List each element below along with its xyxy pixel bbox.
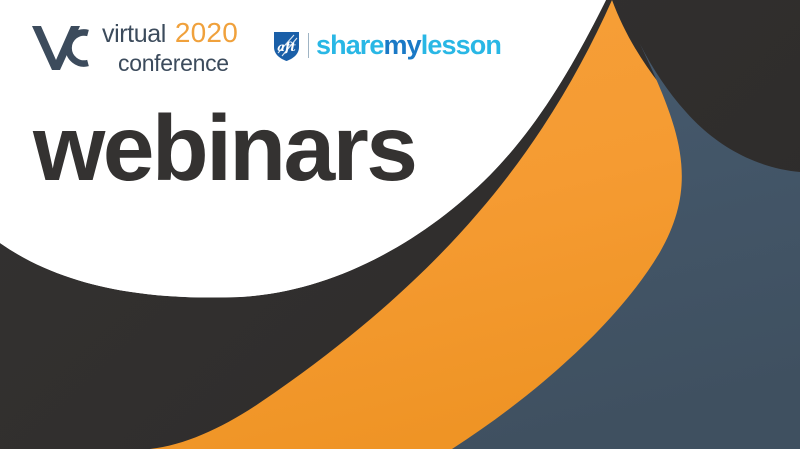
- svg-text:aft: aft: [277, 40, 296, 54]
- share-my-lesson-logo: aft sharemylesson: [272, 29, 501, 62]
- conference-text: conference: [118, 52, 238, 75]
- logo-divider: [308, 33, 309, 58]
- virtual-conference-logo: virtual 2020 conference: [28, 18, 238, 75]
- webinar-promo-banner: virtual 2020 conference aft: [0, 0, 800, 449]
- year-text: 2020: [175, 19, 238, 47]
- virtual-text: virtual: [102, 22, 166, 47]
- logo-row: virtual 2020 conference aft: [28, 18, 501, 75]
- virtual-conference-line1: virtual 2020: [102, 19, 238, 47]
- share-my-lesson-wordmark: sharemylesson: [316, 32, 501, 59]
- sml-lesson-text: lesson: [421, 30, 501, 60]
- sml-my-text: my: [384, 30, 421, 60]
- sml-share-text: share: [316, 30, 384, 60]
- aft-shield-icon: aft: [272, 29, 301, 62]
- virtual-conference-wordmark: virtual 2020 conference: [102, 19, 238, 75]
- vc-monogram-icon: [28, 20, 100, 74]
- page-title: webinars: [33, 102, 415, 195]
